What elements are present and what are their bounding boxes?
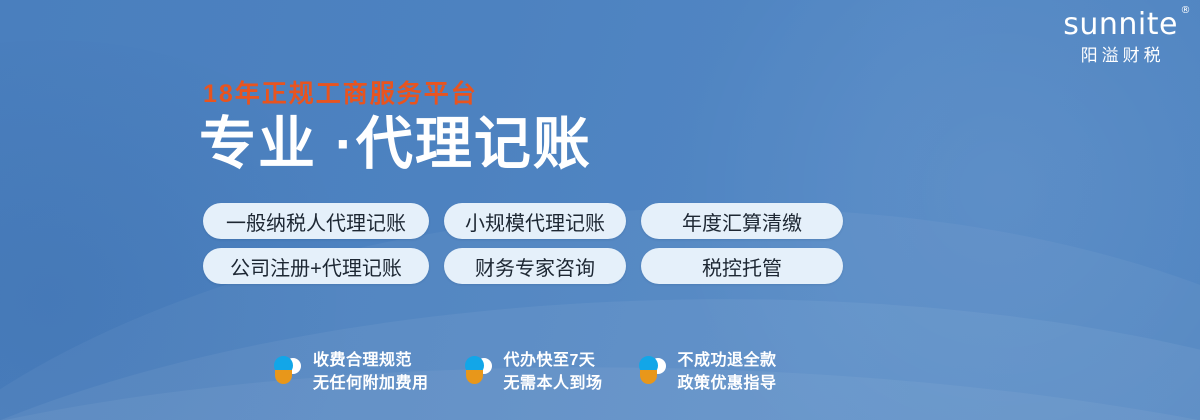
service-pill-group: 一般纳税人代理记账 小规模代理记账 年度汇算清缴 公司注册+代理记账 财务专家咨…	[203, 203, 843, 293]
circle-moon-cup-icon	[272, 355, 302, 389]
feature-line-1: 不成功退全款	[678, 352, 777, 369]
logo-chinese-name: 阳溢财税	[1063, 47, 1178, 64]
promo-banner: sunnite ® 阳溢财税 18年正规工商服务平台 专业 ·代理记账 一般纳税…	[0, 0, 1200, 420]
registered-trademark-icon: ®	[1181, 6, 1192, 16]
service-pill-row-2: 公司注册+代理记账 财务专家咨询 税控托管	[203, 248, 843, 284]
feature-strip: 收费合理规范 无任何附加费用 代办快至7天 无需本人到场 不成功退全款	[272, 349, 777, 395]
hero-kicker: 18年正规工商服务平台	[203, 74, 478, 110]
service-pill-company-registration[interactable]: 公司注册+代理记账	[203, 248, 429, 284]
service-pill-row-1: 一般纳税人代理记账 小规模代理记账 年度汇算清缴	[203, 203, 843, 239]
service-pill-finance-consulting[interactable]: 财务专家咨询	[444, 248, 626, 284]
feature-line-2: 无需本人到场	[504, 375, 603, 392]
hero-headline: 专业 ·代理记账	[199, 113, 592, 176]
background-wave-band-2	[0, 274, 1200, 420]
service-pill-tax-control-hosting[interactable]: 税控托管	[641, 248, 843, 284]
feature-line-1: 收费合理规范	[313, 352, 412, 369]
feature-text: 收费合理规范 无任何附加费用	[313, 349, 429, 395]
feature-line-1: 代办快至7天	[504, 352, 596, 369]
feature-item: 代办快至7天 无需本人到场	[463, 349, 603, 395]
feature-item: 收费合理规范 无任何附加费用	[272, 349, 429, 395]
service-pill-small-scale[interactable]: 小规模代理记账	[444, 203, 626, 239]
feature-line-2: 政策优惠指导	[678, 375, 777, 392]
service-pill-general-taxpayer[interactable]: 一般纳税人代理记账	[203, 203, 429, 239]
feature-line-2: 无任何附加费用	[313, 375, 429, 392]
logo-wordmark: sunnite ®	[1063, 10, 1178, 40]
service-pill-annual-settlement[interactable]: 年度汇算清缴	[641, 203, 843, 239]
icon-cup-shape	[640, 370, 657, 384]
brand-logo[interactable]: sunnite ® 阳溢财税	[1063, 10, 1178, 64]
feature-item: 不成功退全款 政策优惠指导	[637, 349, 777, 395]
feature-text: 不成功退全款 政策优惠指导	[678, 349, 777, 395]
circle-moon-cup-icon	[463, 355, 493, 389]
circle-moon-cup-icon	[637, 355, 667, 389]
logo-wordmark-text: sunnite	[1063, 7, 1178, 42]
feature-text: 代办快至7天 无需本人到场	[504, 349, 603, 395]
icon-cup-shape	[466, 370, 483, 384]
icon-cup-shape	[275, 370, 292, 384]
